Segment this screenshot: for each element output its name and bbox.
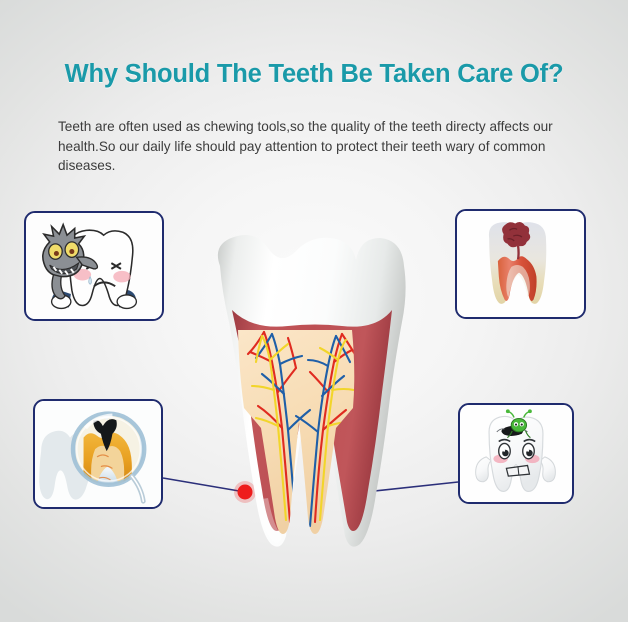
thumbnail-worried-tooth-with-germ[interactable] xyxy=(458,403,574,504)
intro-paragraph: Teeth are often used as chewing tools,so… xyxy=(58,117,558,176)
magnifier-cavity-icon xyxy=(35,401,161,507)
thumbnail-tooth-decay-cross-section[interactable] xyxy=(455,209,586,319)
poster-canvas: Why Should The Teeth Be Taken Care Of? T… xyxy=(0,0,628,622)
thumbnail-bacteria-attacking-tooth[interactable] xyxy=(24,211,164,321)
thumbnail-magnifier-cavity-inspection[interactable] xyxy=(33,399,163,509)
worried-tooth-icon xyxy=(460,405,572,502)
molar-cross-section-diagram xyxy=(160,222,430,552)
germ-monster-icon xyxy=(26,213,162,319)
page-title: Why Should The Teeth Be Taken Care Of? xyxy=(0,60,628,89)
decayed-tooth-icon xyxy=(457,211,584,317)
